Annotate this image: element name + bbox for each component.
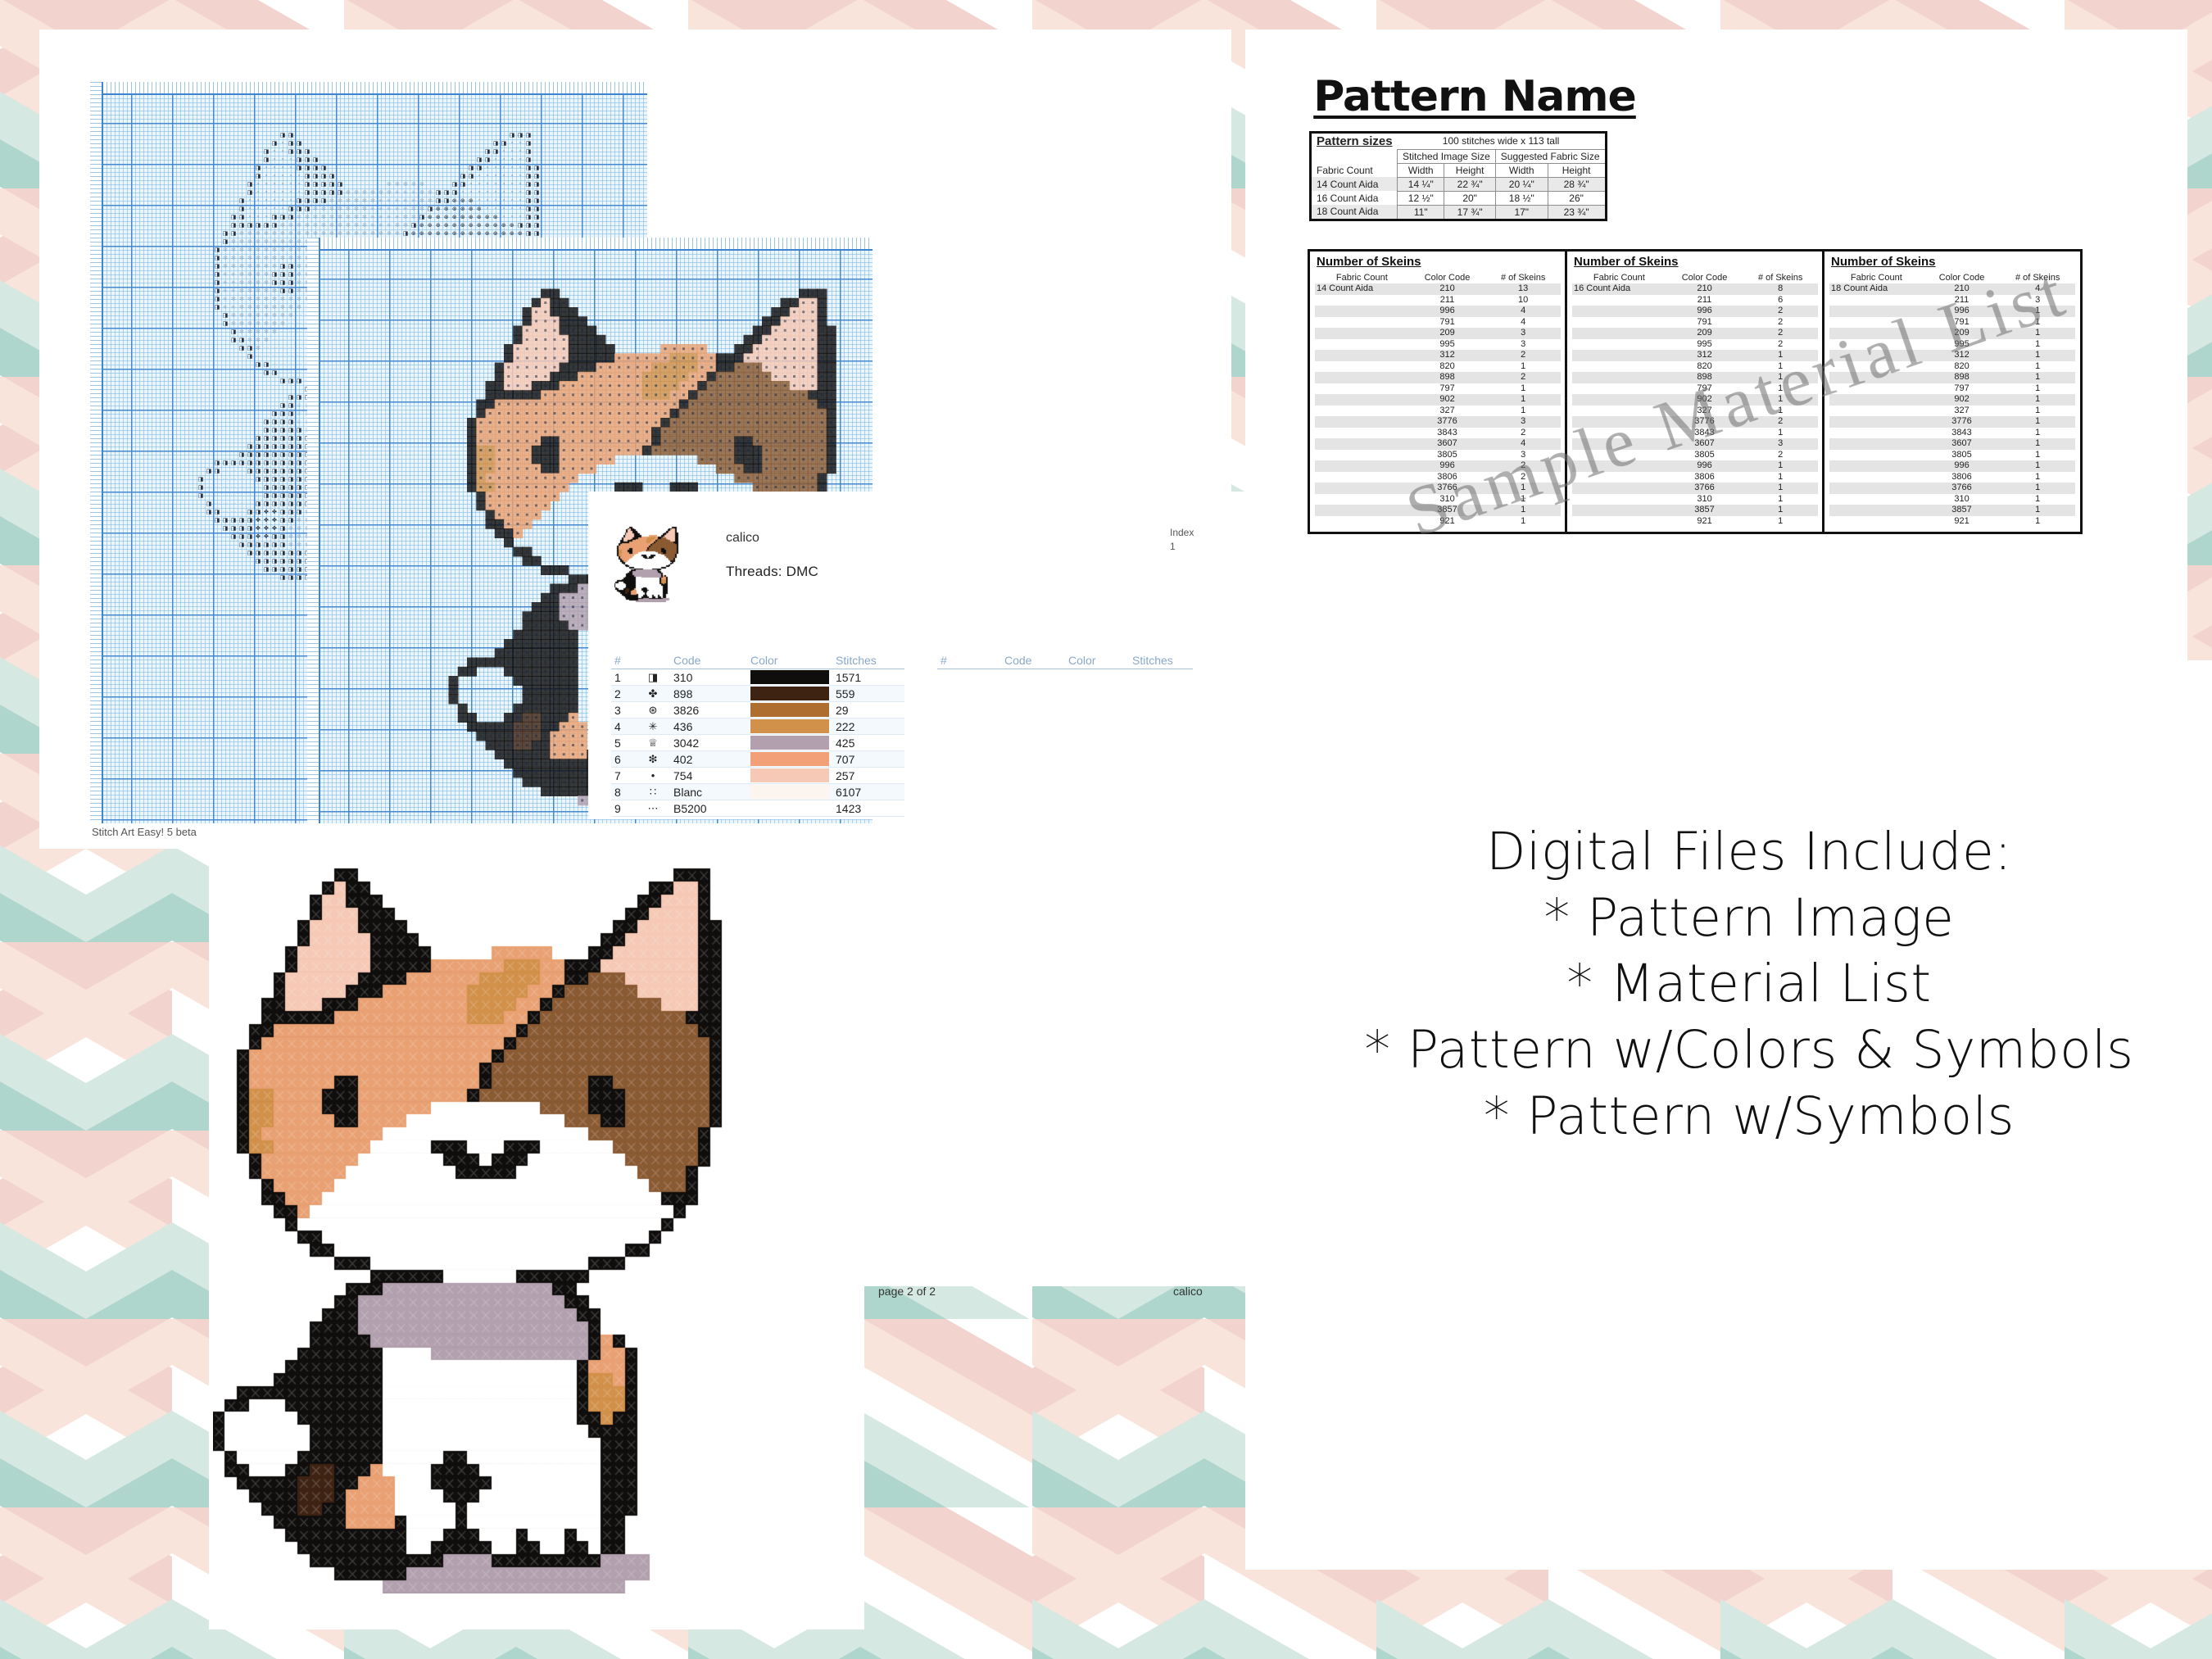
pattern-sizes-dimension-note: 100 stitches wide x 113 tall <box>1398 133 1606 150</box>
skein-row: 36071 <box>1829 438 2075 450</box>
skein-fabric <box>1572 317 1666 329</box>
skein-fabric <box>1829 472 1924 483</box>
legend-row-swatch <box>747 702 832 718</box>
legend-body-2 <box>937 669 1193 817</box>
skein-count: 2 <box>1485 372 1561 383</box>
skein-fabric <box>1315 372 1409 383</box>
skein-row: 36074 <box>1315 438 1561 450</box>
skein-code: 996 <box>1924 306 2001 317</box>
legend-row-number: 5 <box>611 735 636 751</box>
software-credit-label: Stitch Art Easy! 5 beta <box>92 826 197 838</box>
skein-code: 310 <box>1924 494 2001 505</box>
size-stitched-height: 20" <box>1444 191 1495 205</box>
size-fabric-width: 18 ½" <box>1495 191 1548 205</box>
skein-fabric <box>1315 350 1409 361</box>
design-thumbnail <box>614 526 691 602</box>
legend-row-symbol: ⋯ <box>636 800 670 817</box>
skein-code: 327 <box>1409 406 1486 417</box>
skein-fabric <box>1315 428 1409 439</box>
legend-row: 5♕3042425 <box>611 735 904 751</box>
skein-count: 3 <box>1485 416 1561 428</box>
skein-code: 902 <box>1666 394 1743 406</box>
skein-code: 820 <box>1924 361 2001 373</box>
skein-row: 38051 <box>1829 450 2075 461</box>
legend-row-stitches: 222 <box>832 718 904 735</box>
skein-table: Fabric Count Color Code # of Skeins 16 C… <box>1572 272 1818 527</box>
skein-code: 797 <box>1409 383 1486 395</box>
col-stitched-height: Height <box>1444 163 1495 177</box>
skein-row: 2116 <box>1572 295 1818 306</box>
skein-code: 791 <box>1409 317 1486 329</box>
skein-code: 3766 <box>1409 483 1486 494</box>
skein-row: 38432 <box>1315 428 1561 439</box>
legend-row-swatch <box>747 751 832 768</box>
skein-code: 209 <box>1409 328 1486 339</box>
skein-count: 2 <box>1485 472 1561 483</box>
skein-row: 37762 <box>1572 416 1818 428</box>
skein-row: 9961 <box>1829 306 2075 317</box>
skein-fabric <box>1829 306 1924 317</box>
skein-row: 9021 <box>1315 394 1561 406</box>
skein-fabric <box>1572 516 1666 528</box>
skein-count: 1 <box>1743 350 1818 361</box>
skein-header-row: Fabric Count Color Code # of Skeins <box>1829 272 2075 283</box>
skein-code: 898 <box>1666 372 1743 383</box>
skein-row: 3271 <box>1572 406 1818 417</box>
legend-row-code: 310 <box>670 669 747 686</box>
skein-code: 3607 <box>1666 438 1743 450</box>
size-stitched-height: 22 ¾" <box>1444 177 1495 191</box>
skein-fabric <box>1315 317 1409 329</box>
skein-col-count: # of Skeins <box>1485 272 1561 283</box>
digital-files-text-block: Digital Files Include: * Pattern Image *… <box>1335 819 2163 1149</box>
skein-body: 14 Count Aida210132111099647914209399533… <box>1315 283 1561 527</box>
skein-count: 2 <box>1743 339 1818 351</box>
skein-row: 9961 <box>1572 460 1818 472</box>
skein-row: 3122 <box>1315 350 1561 361</box>
pattern-preview-artwork <box>213 856 819 1593</box>
skein-code: 209 <box>1666 328 1743 339</box>
skein-count: 1 <box>2000 505 2075 516</box>
skein-fabric <box>1829 505 1924 516</box>
skein-fabric <box>1572 394 1666 406</box>
skein-row: 14 Count Aida21013 <box>1315 283 1561 295</box>
skein-row: 7914 <box>1315 317 1561 329</box>
skein-row: 2092 <box>1572 328 1818 339</box>
col-fabric-count: Fabric Count <box>1311 163 1398 177</box>
skein-count: 1 <box>1743 494 1818 505</box>
legend-row: 8∷Blanc6107 <box>611 784 904 800</box>
legend-row-stitches: 29 <box>832 702 904 718</box>
pattern-sizes-group-row: Stitched Image Size Suggested Fabric Siz… <box>1311 149 1607 163</box>
legend-row-number: 8 <box>611 784 636 800</box>
skein-count: 1 <box>1485 383 1561 395</box>
skein-col-count: # of Skeins <box>2000 272 2075 283</box>
skein-row: 21110 <box>1315 295 1561 306</box>
skein-fabric <box>1829 438 1924 450</box>
legend-row-symbol: ✤ <box>636 686 670 702</box>
size-fabric-count: 14 Count Aida <box>1311 177 1398 191</box>
skein-code: 921 <box>1409 516 1486 528</box>
digital-files-item-2: * Pattern w/Colors & Symbols <box>1335 1018 2163 1084</box>
skein-fabric <box>1315 306 1409 317</box>
legend-row-number: 9 <box>611 800 636 817</box>
skein-fabric <box>1572 505 1666 516</box>
size-fabric-width: 17" <box>1495 205 1548 220</box>
page-title: Pattern Name <box>1311 72 1639 121</box>
skein-count: 1 <box>2000 350 2075 361</box>
skein-row: 37661 <box>1315 483 1561 494</box>
legend-row-swatch <box>747 800 832 817</box>
legend2-col-color: Color <box>1065 652 1129 669</box>
legend-row-symbol: ✳ <box>636 718 670 735</box>
skein-fabric <box>1572 350 1666 361</box>
skein-col-fabric: Fabric Count <box>1572 272 1666 283</box>
skein-count: 1 <box>2000 472 2075 483</box>
skein-col-code: Color Code <box>1666 272 1743 283</box>
size-fabric-count: 18 Count Aida <box>1311 205 1398 220</box>
legend-col-code: Code <box>670 652 747 669</box>
design-name-label: calico <box>726 531 759 546</box>
skein-fabric <box>1572 295 1666 306</box>
skein-code: 995 <box>1666 339 1743 351</box>
skein-fabric <box>1315 394 1409 406</box>
skein-count: 1 <box>2000 339 2075 351</box>
skein-count: 1 <box>1485 361 1561 373</box>
skein-fabric <box>1315 450 1409 461</box>
legend-row-code: 402 <box>670 751 747 768</box>
skein-header-row: Fabric Count Color Code # of Skeins <box>1572 272 1818 283</box>
skein-fabric <box>1315 295 1409 306</box>
skein-code: 327 <box>1666 406 1743 417</box>
skein-table: Fabric Count Color Code # of Skeins 18 C… <box>1829 272 2075 527</box>
skein-code: 996 <box>1666 306 1743 317</box>
skein-count: 1 <box>1743 406 1818 417</box>
skein-fabric <box>1829 460 1924 472</box>
skein-fabric <box>1572 372 1666 383</box>
skein-row: 8201 <box>1572 361 1818 373</box>
legend-row-stitches: 1571 <box>832 669 904 686</box>
legend-row-stitches: 707 <box>832 751 904 768</box>
legend2-col-stitches: Stitches <box>1129 652 1193 669</box>
skein-code: 797 <box>1924 383 2001 395</box>
legend-row-symbol: ❇ <box>636 751 670 768</box>
skein-row: 8981 <box>1572 372 1818 383</box>
skein-code: 209 <box>1924 328 2001 339</box>
skein-fabric <box>1572 438 1666 450</box>
skein-fabric <box>1572 328 1666 339</box>
skein-col-code: Color Code <box>1409 272 1486 283</box>
skein-row: 9021 <box>1829 394 2075 406</box>
skein-code: 902 <box>1409 394 1486 406</box>
skein-fabric <box>1572 406 1666 417</box>
skein-fabric: 18 Count Aida <box>1829 283 1924 295</box>
page-number-label: page 2 of 2 <box>878 1285 936 1298</box>
skein-fabric <box>1572 472 1666 483</box>
skein-table-16-count: Number of Skeins Fabric Count Color Code… <box>1565 249 1825 534</box>
legend-row: 9⋯B52001423 <box>611 800 904 817</box>
skein-fabric <box>1315 483 1409 494</box>
skein-code: 791 <box>1666 317 1743 329</box>
skein-row: 9021 <box>1572 394 1818 406</box>
skein-fabric <box>1572 361 1666 373</box>
pattern-sizes-header-row: Fabric Count Width Height Width Height <box>1311 163 1607 177</box>
skein-count: 1 <box>1743 394 1818 406</box>
skein-table-18-count: Number of Skeins Fabric Count Color Code… <box>1822 249 2083 534</box>
skein-code: 3843 <box>1666 428 1743 439</box>
legend-row-symbol: ♕ <box>636 735 670 751</box>
size-stitched-height: 17 ¾" <box>1444 205 1495 220</box>
skein-row: 9953 <box>1315 339 1561 351</box>
skein-row: 38052 <box>1572 450 1818 461</box>
skein-fabric <box>1572 483 1666 494</box>
legend2-col-code: Code <box>1001 652 1065 669</box>
pattern-sizes-table: Pattern sizes 100 stitches wide x 113 ta… <box>1309 131 1607 221</box>
skein-count: 8 <box>1743 283 1818 295</box>
skein-code: 3843 <box>1924 428 2001 439</box>
index-block: Index 1 <box>1170 526 1194 555</box>
skein-row: 37661 <box>1829 483 2075 494</box>
skein-code: 996 <box>1409 306 1486 317</box>
legend-row-stitches: 425 <box>832 735 904 751</box>
skein-col-fabric: Fabric Count <box>1315 272 1409 283</box>
legend-tables: # Code Color Stitches 1◨31015712✤8985593… <box>611 652 1193 817</box>
skein-count: 3 <box>2000 295 2075 306</box>
skein-count: 3 <box>1485 450 1561 461</box>
group-stitched-image-size: Stitched Image Size <box>1398 149 1496 163</box>
skein-count: 1 <box>1743 460 1818 472</box>
skein-code: 211 <box>1666 295 1743 306</box>
legend-header-row: # Code Color Stitches <box>611 652 904 669</box>
skein-count: 10 <box>1485 295 1561 306</box>
legend-row-symbol: ∷ <box>636 784 670 800</box>
skein-count: 1 <box>2000 383 2075 395</box>
size-stitched-width: 12 ½" <box>1398 191 1444 205</box>
skein-count: 1 <box>2000 450 2075 461</box>
skein-count: 1 <box>1743 372 1818 383</box>
skein-code: 3776 <box>1924 416 2001 428</box>
skein-count: 2 <box>1743 450 1818 461</box>
skein-count: 1 <box>2000 516 2075 528</box>
skein-count: 1 <box>2000 394 2075 406</box>
skein-row: 8982 <box>1315 372 1561 383</box>
skein-row: 38431 <box>1829 428 2075 439</box>
skein-row: 9211 <box>1315 516 1561 528</box>
col-fabric-width: Width <box>1495 163 1548 177</box>
skein-row: 16 Count Aida2108 <box>1572 283 1818 295</box>
skein-fabric <box>1315 494 1409 505</box>
legend-row-swatch <box>747 784 832 800</box>
legend-table-primary: # Code Color Stitches 1◨31015712✤8985593… <box>611 652 904 817</box>
skein-fabric: 14 Count Aida <box>1315 283 1409 295</box>
skein-table-14-count: Number of Skeins Fabric Count Color Code… <box>1308 249 1568 534</box>
legend-col-stitches: Stitches <box>832 652 904 669</box>
size-fabric-width: 20 ¼" <box>1495 177 1548 191</box>
skein-fabric <box>1315 460 1409 472</box>
legend-row: 4✳436222 <box>611 718 904 735</box>
skein-count: 4 <box>2000 283 2075 295</box>
skein-col-code: Color Code <box>1924 272 2001 283</box>
skein-fabric <box>1572 450 1666 461</box>
size-fabric-height: 26" <box>1548 191 1606 205</box>
skein-count: 1 <box>1743 361 1818 373</box>
skein-count: 1 <box>1485 505 1561 516</box>
skein-code: 310 <box>1409 494 1486 505</box>
skein-fabric <box>1572 416 1666 428</box>
skein-fabric <box>1315 416 1409 428</box>
skein-row: 8201 <box>1315 361 1561 373</box>
skein-heading: Number of Skeins <box>1574 255 1818 269</box>
legend-row-swatch <box>747 735 832 751</box>
legend-row: 1◨3101571 <box>611 669 904 686</box>
skein-count: 2 <box>1485 350 1561 361</box>
legend-row: 7•754257 <box>611 768 904 784</box>
skein-code: 312 <box>1409 350 1486 361</box>
skein-count: 1 <box>1485 483 1561 494</box>
digital-files-item-0: * Pattern Image <box>1335 886 2163 952</box>
skein-count: 1 <box>1485 494 1561 505</box>
legend-row-symbol: ⊛ <box>636 702 670 718</box>
size-fabric-height: 28 ¾" <box>1548 177 1606 191</box>
legend-row-swatch <box>747 768 832 784</box>
skein-fabric <box>1829 516 1924 528</box>
pattern-sizes-title-row: Pattern sizes 100 stitches wide x 113 ta… <box>1311 133 1607 150</box>
legend-row-number: 2 <box>611 686 636 702</box>
skein-count: 1 <box>1485 394 1561 406</box>
skein-code: 3776 <box>1666 416 1743 428</box>
skein-code: 996 <box>1409 460 1486 472</box>
skein-row: 2091 <box>1829 328 2075 339</box>
skein-row: 9964 <box>1315 306 1561 317</box>
skein-row: 9211 <box>1829 516 2075 528</box>
skein-heading: Number of Skeins <box>1831 255 2075 269</box>
skein-row: 9951 <box>1829 339 2075 351</box>
skein-code: 312 <box>1924 350 2001 361</box>
skein-fabric <box>1315 438 1409 450</box>
skein-count: 2 <box>1485 428 1561 439</box>
skein-count: 3 <box>1485 339 1561 351</box>
legend-row-swatch <box>747 669 832 686</box>
skein-code: 3805 <box>1924 450 2001 461</box>
skein-fabric <box>1829 328 1924 339</box>
group-suggested-fabric-size: Suggested Fabric Size <box>1495 149 1606 163</box>
skein-row: 3121 <box>1829 350 2075 361</box>
legend-body: 1◨31015712✤8985593⊛3826294✳4362225♕30424… <box>611 669 904 817</box>
skein-fabric <box>1829 317 1924 329</box>
skein-fabric <box>1572 383 1666 395</box>
skein-count: 1 <box>1743 505 1818 516</box>
skein-count: 2 <box>1485 460 1561 472</box>
legend-row-stitches: 6107 <box>832 784 904 800</box>
size-fabric-count: 16 Count Aida <box>1311 191 1398 205</box>
skein-code: 996 <box>1666 460 1743 472</box>
skein-row: 37761 <box>1829 416 2075 428</box>
skein-row: 8981 <box>1829 372 2075 383</box>
pattern-sizes-heading: Pattern sizes <box>1311 133 1398 150</box>
skein-row: 38571 <box>1829 505 2075 516</box>
skein-count: 1 <box>2000 460 2075 472</box>
skein-code: 3857 <box>1409 505 1486 516</box>
skein-code: 898 <box>1924 372 2001 383</box>
legend-row-swatch <box>747 718 832 735</box>
skein-count: 1 <box>2000 483 2075 494</box>
col-stitched-width: Width <box>1398 163 1444 177</box>
legend-col-color: Color <box>747 652 832 669</box>
skein-code: 3806 <box>1924 472 2001 483</box>
pattern-size-row: 14 Count Aida14 ¼"22 ¾"20 ¼"28 ¾" <box>1311 177 1607 191</box>
skein-fabric <box>1829 383 1924 395</box>
skein-fabric <box>1829 350 1924 361</box>
legend-row-number: 3 <box>611 702 636 718</box>
legend2-col-number: # <box>937 652 1001 669</box>
skein-fabric <box>1315 383 1409 395</box>
legend-row-code: B5200 <box>670 800 747 817</box>
skein-count: 1 <box>2000 494 2075 505</box>
skein-fabric <box>1829 372 1924 383</box>
skein-code: 210 <box>1924 283 2001 295</box>
skein-code: 921 <box>1924 516 2001 528</box>
skein-fabric <box>1572 428 1666 439</box>
skein-row: 18 Count Aida2104 <box>1829 283 2075 295</box>
skein-code: 898 <box>1409 372 1486 383</box>
skein-code: 3843 <box>1409 428 1486 439</box>
skein-row: 38061 <box>1572 472 1818 483</box>
document-name-label: calico <box>1173 1285 1203 1298</box>
skein-count: 1 <box>1743 483 1818 494</box>
skein-code: 310 <box>1666 494 1743 505</box>
legend-row-symbol: • <box>636 768 670 784</box>
skein-row: 2093 <box>1315 328 1561 339</box>
skein-code: 3766 <box>1924 483 2001 494</box>
legend-table-secondary: # Code Color Stitches <box>937 652 1193 817</box>
skein-fabric <box>1315 505 1409 516</box>
skein-fabric <box>1572 460 1666 472</box>
chart-ruler-horizontal <box>90 82 647 95</box>
skein-count: 4 <box>1485 317 1561 329</box>
skein-count: 1 <box>2000 428 2075 439</box>
skein-code: 995 <box>1924 339 2001 351</box>
skein-row: 7971 <box>1829 383 2075 395</box>
skein-count: 1 <box>2000 361 2075 373</box>
skein-count: 6 <box>1743 295 1818 306</box>
threads-brand-label: Threads: DMC <box>726 564 818 580</box>
skein-body: 18 Count Aida210421139961791120919951312… <box>1829 283 2075 527</box>
skein-code: 996 <box>1924 460 2001 472</box>
skein-row: 9962 <box>1315 460 1561 472</box>
skein-row: 36073 <box>1572 438 1818 450</box>
legend-col-number: # <box>611 652 670 669</box>
spacer-cell <box>1311 149 1398 163</box>
skein-row: 3271 <box>1829 406 2075 417</box>
skein-row: 38431 <box>1572 428 1818 439</box>
skein-count: 2 <box>1743 317 1818 329</box>
skein-code: 210 <box>1409 283 1486 295</box>
skein-count: 1 <box>2000 406 2075 417</box>
skein-code: 211 <box>1924 295 2001 306</box>
skein-fabric <box>1315 516 1409 528</box>
skein-fabric <box>1829 295 1924 306</box>
digital-files-heading: Digital Files Include: <box>1335 819 2163 886</box>
size-fabric-height: 23 ¾" <box>1548 205 1606 220</box>
skein-code: 312 <box>1666 350 1743 361</box>
legend-row-symbol: ◨ <box>636 669 670 686</box>
skein-row: 38062 <box>1315 472 1561 483</box>
size-stitched-width: 11" <box>1398 205 1444 220</box>
skein-code: 3766 <box>1666 483 1743 494</box>
skein-count: 1 <box>1743 472 1818 483</box>
skein-count: 13 <box>1485 283 1561 295</box>
legend-row-code: 898 <box>670 686 747 702</box>
